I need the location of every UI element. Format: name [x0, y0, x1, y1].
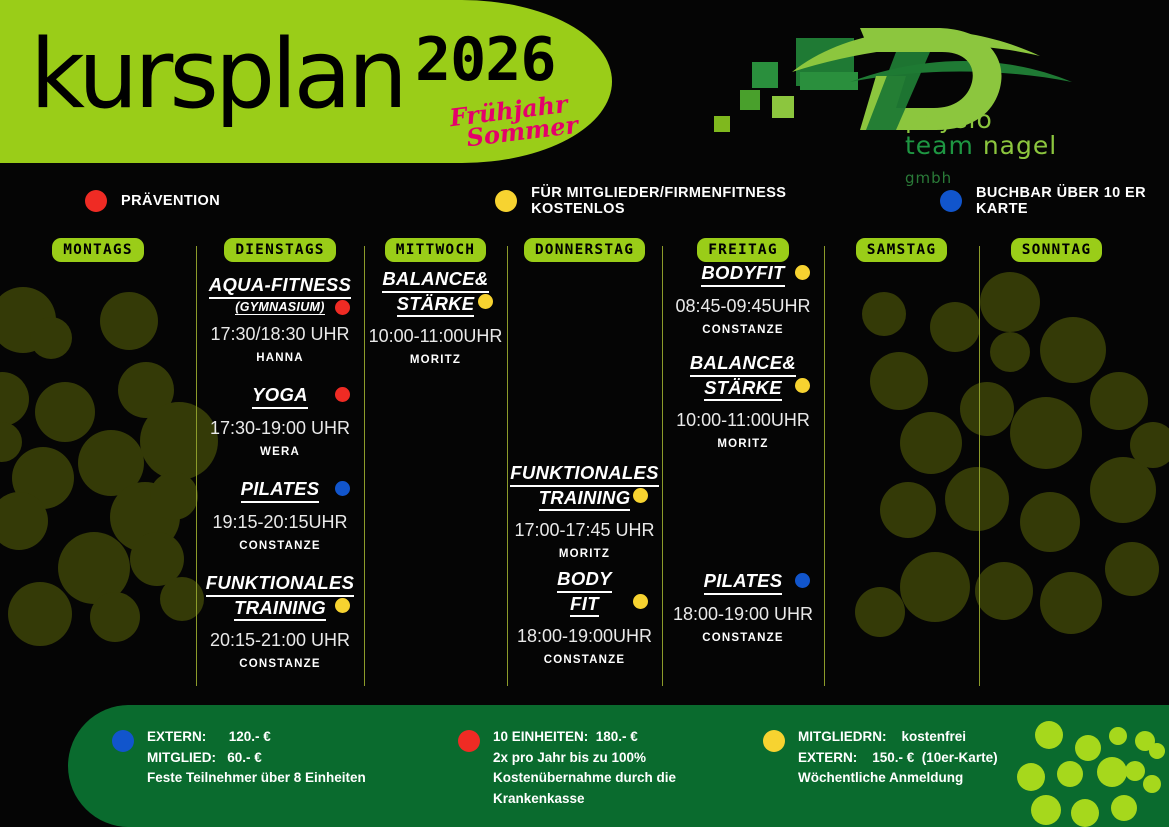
course-dot-yellow-icon — [633, 488, 648, 503]
course-entry[interactable]: BODYFIT08:45-09:45UHRCONSTANZE — [662, 262, 824, 336]
legend-label-praevention: PRÄVENTION — [121, 193, 220, 209]
company-logo: physio team nagel gmbh — [700, 12, 1100, 162]
day-column-samstag: SAMSTAG — [824, 232, 979, 692]
day-events: AQUA-FITNESS(GYMNASIUM)17:30/18:30 UHRHA… — [196, 232, 364, 692]
footer-decorative-circle — [1031, 795, 1061, 825]
footer-decorative-circle — [1143, 775, 1161, 793]
course-title: FUNKTIONALES TRAINING — [507, 462, 662, 511]
logo-physio-text: physio — [905, 107, 1100, 132]
legend-item-zehnerkarte: BUCHBAR ÜBER 10 ER KARTE — [940, 185, 1169, 217]
legend-dot-blue-icon — [940, 190, 962, 212]
course-trainer: CONSTANZE — [662, 324, 824, 336]
course-trainer: MORITZ — [507, 548, 662, 560]
course-dot-yellow-icon — [633, 594, 648, 609]
course-time: 18:00-19:00UHR — [507, 626, 662, 647]
course-title: BALANCE& STÄRKE — [662, 352, 824, 401]
course-time: 08:45-09:45UHR — [662, 296, 824, 317]
legend-dot-yellow-icon — [495, 190, 517, 212]
course-entry[interactable]: FUNKTIONALES TRAINING17:00-17:45 UHRMORI… — [507, 462, 662, 560]
course-trainer: CONSTANZE — [507, 654, 662, 666]
course-title: BODY FIT — [507, 568, 662, 617]
price-line: Wöchentliche Anmeldung — [798, 768, 998, 789]
course-time: 20:15-21:00 UHR — [196, 630, 364, 651]
price-line: Krankenkasse — [493, 789, 676, 810]
footer-decorative-circle — [1017, 763, 1045, 791]
price-line: Kostenübernahme durch die — [493, 768, 676, 789]
course-entry[interactable]: BODY FIT18:00-19:00UHRCONSTANZE — [507, 568, 662, 666]
day-events: BODYFIT08:45-09:45UHRCONSTANZEBALANCE& S… — [662, 232, 824, 692]
price-line: EXTERN: 150.- € (10er-Karte) — [798, 748, 998, 769]
course-trainer: MORITZ — [364, 354, 507, 366]
day-events — [979, 232, 1134, 692]
poster-header: kursplan 2026 Frühjahr Sommer physio tea… — [0, 0, 1169, 170]
day-column-mittwoch: MITTWOCHBALANCE& STÄRKE10:00-11:00UHRMOR… — [364, 232, 507, 692]
course-time: 17:30/18:30 UHR — [196, 324, 364, 345]
price-line: 2x pro Jahr bis zu 100% — [493, 748, 676, 769]
price-dot-blue-icon — [112, 730, 134, 752]
course-dot-blue-icon — [335, 481, 350, 496]
course-time: 17:00-17:45 UHR — [507, 520, 662, 541]
footer-decorative-circle — [1125, 761, 1145, 781]
course-title: AQUA-FITNESS — [196, 274, 364, 299]
course-dot-blue-icon — [795, 573, 810, 588]
price-line: Feste Teilnehmer über 8 Einheiten — [147, 768, 366, 789]
legend-item-mitglieder: FÜR MITGLIEDER/FIRMENFITNESS KOSTENLOS — [495, 185, 835, 217]
day-events — [824, 232, 979, 692]
course-time: 10:00-11:00UHR — [364, 326, 507, 347]
course-time: 10:00-11:00UHR — [662, 410, 824, 431]
kursplan-poster: kursplan 2026 Frühjahr Sommer physio tea… — [0, 0, 1169, 827]
legend-dot-red-icon — [85, 190, 107, 212]
course-trainer: HANNA — [196, 352, 364, 364]
course-entry[interactable]: AQUA-FITNESS(GYMNASIUM)17:30/18:30 UHRHA… — [196, 274, 364, 364]
price-text-mitglieder: MITGLIEDRN: kostenfreiEXTERN: 150.- € (1… — [798, 727, 998, 789]
course-trainer: WERA — [196, 446, 364, 458]
course-entry[interactable]: PILATES18:00-19:00 UHRCONSTANZE — [662, 570, 824, 644]
course-time: 18:00-19:00 UHR — [662, 604, 824, 625]
price-box-praevention: 10 EINHEITEN: 180.- €2x pro Jahr bis zu … — [458, 727, 676, 809]
course-entry[interactable]: YOGA17:30-19:00 UHRWERA — [196, 384, 364, 458]
footer-decorative-circle — [1111, 795, 1137, 821]
course-dot-red-icon — [335, 300, 350, 315]
course-dot-yellow-icon — [795, 265, 810, 280]
price-box-mitglieder: MITGLIEDRN: kostenfreiEXTERN: 150.- € (1… — [763, 727, 998, 789]
legend-item-praevention: PRÄVENTION — [85, 190, 220, 212]
course-trainer: MORITZ — [662, 438, 824, 450]
footer-decorative-circle — [1057, 761, 1083, 787]
price-line: MITGLIED: 60.- € — [147, 748, 366, 769]
course-entry[interactable]: PILATES19:15-20:15UHRCONSTANZE — [196, 478, 364, 552]
day-column-dienstags: DIENSTAGSAQUA-FITNESS(GYMNASIUM)17:30/18… — [196, 232, 364, 692]
footer-decorative-circle — [1109, 727, 1127, 745]
course-dot-red-icon — [335, 387, 350, 402]
course-time: 17:30-19:00 UHR — [196, 418, 364, 439]
course-entry[interactable]: BALANCE& STÄRKE10:00-11:00UHRMORITZ — [364, 268, 507, 366]
price-line: EXTERN: 120.- € — [147, 727, 366, 748]
price-dot-red-icon — [458, 730, 480, 752]
pricing-footer: EXTERN: 120.- €MITGLIED: 60.- €Feste Tei… — [68, 705, 1169, 827]
footer-decorative-circle — [1075, 735, 1101, 761]
price-text-zehnerkarte: EXTERN: 120.- €MITGLIED: 60.- €Feste Tei… — [147, 727, 366, 789]
footer-decorative-circle — [1149, 743, 1165, 759]
legend-bar: PRÄVENTION FÜR MITGLIEDER/FIRMENFITNESS … — [0, 170, 1169, 232]
day-events — [0, 232, 196, 692]
legend-label-zehnerkarte: BUCHBAR ÜBER 10 ER KARTE — [976, 185, 1169, 217]
course-time: 19:15-20:15UHR — [196, 512, 364, 533]
logo-nagel-text: nagel — [983, 131, 1057, 160]
price-line: 10 EINHEITEN: 180.- € — [493, 727, 676, 748]
price-dot-yellow-icon — [763, 730, 785, 752]
course-title: FUNKTIONALES TRAINING — [196, 572, 364, 621]
day-column-sonntag: SONNTAG — [979, 232, 1134, 692]
day-events: FUNKTIONALES TRAINING17:00-17:45 UHRMORI… — [507, 232, 662, 692]
day-column-montags: MONTAGS — [0, 232, 196, 692]
course-trainer: CONSTANZE — [196, 658, 364, 670]
footer-decorative-circle — [1035, 721, 1063, 749]
page-title: kursplan — [30, 28, 404, 123]
logo-team-text: team — [905, 131, 983, 160]
course-trainer: CONSTANZE — [662, 632, 824, 644]
course-dot-yellow-icon — [335, 598, 350, 613]
price-text-praevention: 10 EINHEITEN: 180.- €2x pro Jahr bis zu … — [493, 727, 676, 809]
day-column-freitag: FREITAGBODYFIT08:45-09:45UHRCONSTANZEBAL… — [662, 232, 824, 692]
footer-dot-pattern — [1013, 713, 1163, 825]
footer-decorative-circle — [1071, 799, 1099, 827]
course-entry[interactable]: BALANCE& STÄRKE10:00-11:00UHRMORITZ — [662, 352, 824, 450]
schedule-grid: MONTAGSDIENSTAGSAQUA-FITNESS(GYMNASIUM)1… — [0, 232, 1169, 692]
course-dot-yellow-icon — [795, 378, 810, 393]
price-box-zehnerkarte: EXTERN: 120.- €MITGLIED: 60.- €Feste Tei… — [112, 727, 366, 789]
price-line: MITGLIEDRN: kostenfrei — [798, 727, 998, 748]
course-dot-yellow-icon — [478, 294, 493, 309]
course-entry[interactable]: FUNKTIONALES TRAINING20:15-21:00 UHRCONS… — [196, 572, 364, 670]
day-events: BALANCE& STÄRKE10:00-11:00UHRMORITZ — [364, 232, 507, 692]
footer-decorative-circle — [1097, 757, 1127, 787]
course-title: BALANCE& STÄRKE — [364, 268, 507, 317]
course-trainer: CONSTANZE — [196, 540, 364, 552]
year-label: 2026 — [415, 30, 556, 90]
legend-label-mitglieder: FÜR MITGLIEDER/FIRMENFITNESS KOSTENLOS — [531, 185, 835, 217]
day-column-donnerstag: DONNERSTAGFUNKTIONALES TRAINING17:00-17:… — [507, 232, 662, 692]
day-columns: MONTAGSDIENSTAGSAQUA-FITNESS(GYMNASIUM)1… — [0, 232, 1169, 692]
